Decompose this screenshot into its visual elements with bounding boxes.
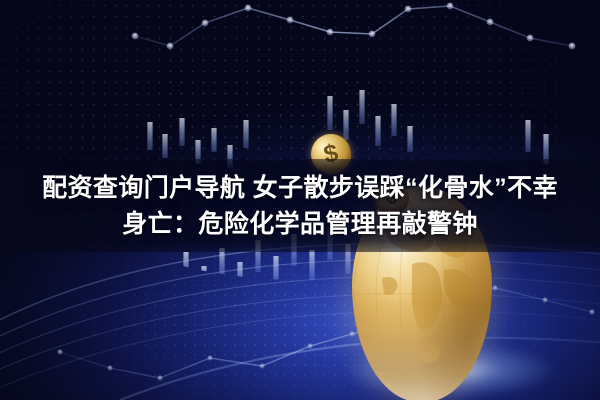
candlestick-body xyxy=(343,110,348,140)
trend-line-node xyxy=(202,20,209,27)
candlestick-body xyxy=(525,120,530,152)
candlestick-body xyxy=(407,126,412,152)
candlestick-body xyxy=(243,120,248,148)
trend-line xyxy=(135,6,572,46)
trend-line-node xyxy=(245,5,252,12)
candlestick-body xyxy=(179,118,184,146)
trend-line-node xyxy=(527,35,534,42)
trend-line-node xyxy=(287,17,294,24)
candlestick-body xyxy=(211,128,216,152)
trend-line-node xyxy=(167,43,174,50)
candlestick-body xyxy=(375,116,380,146)
candlestick-body xyxy=(219,248,224,278)
headline: 配资查询门户导航 女子散步误踩“化骨水”不幸 身亡：危险化学品管理再敲警钟 xyxy=(0,159,600,252)
thumbnail-canvas: $$$ 配资查询门户导航 女子散步误踩“化骨水”不幸 身亡：危险化学品管理再敲警… xyxy=(0,0,600,400)
trend-line-node xyxy=(492,285,497,290)
trend-line-node xyxy=(207,355,212,360)
candlestick-body xyxy=(273,256,278,286)
candlestick-body xyxy=(561,116,566,148)
trend-line-node xyxy=(369,31,376,38)
headline-line-1: 配资查询门户导航 女子散步误踩“化骨水”不幸 xyxy=(42,171,558,205)
trend-line-node xyxy=(569,43,576,50)
trend-line-node xyxy=(589,309,594,314)
candlestick-body xyxy=(237,262,242,290)
candlestick-body xyxy=(201,266,206,292)
trend-line-node xyxy=(57,349,62,354)
trend-line-node xyxy=(157,375,162,380)
candlestick-body xyxy=(359,90,364,124)
trend-line-node xyxy=(542,297,547,302)
candlestick-body xyxy=(327,96,332,130)
candlestick-body xyxy=(391,104,396,136)
candlestick-body xyxy=(147,122,152,150)
trend-line-node xyxy=(259,363,264,368)
headline-line-2: 身亡：危险化学品管理再敲警钟 xyxy=(122,207,478,241)
trend-line-node xyxy=(107,365,112,370)
trend-line-node xyxy=(487,19,494,26)
trend-line-node xyxy=(405,6,412,13)
candlestick-body xyxy=(309,250,314,280)
candlestick-body xyxy=(162,134,167,158)
trend-line-node xyxy=(132,33,139,40)
trend-line-node xyxy=(327,29,334,36)
trend-line-node xyxy=(447,3,454,10)
